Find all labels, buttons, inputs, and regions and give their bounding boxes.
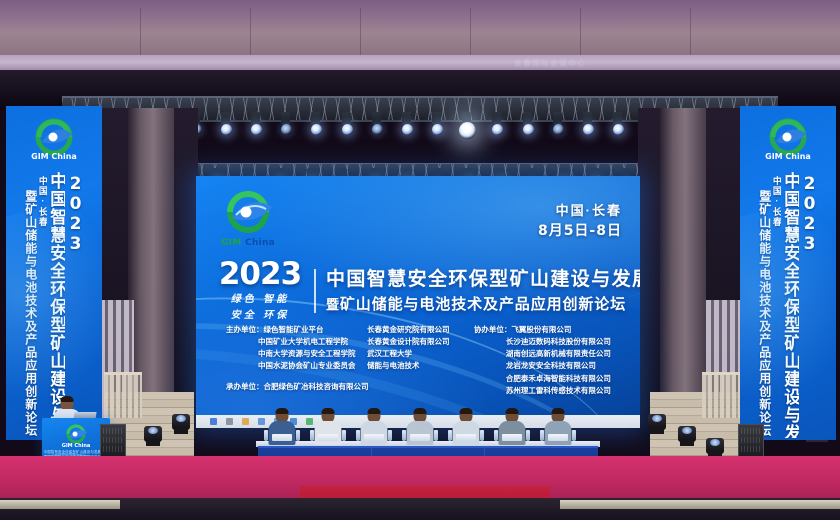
title-divider <box>314 269 316 313</box>
cohost-label: 协办单位： <box>474 324 512 336</box>
host-org: 中国水泥协会矿山专业委员会 <box>226 360 359 372</box>
panelist-hair <box>276 408 289 414</box>
balustrade-left <box>104 372 142 418</box>
undertaker-line: 承办单位：合肥绿色矿冶科技咨询有限公司 <box>226 381 369 392</box>
stage-light <box>342 124 353 135</box>
event-title-sub-lead: 暨 <box>326 297 340 312</box>
undertaker-label: 承办单位： <box>226 381 264 392</box>
moving-head-light <box>648 412 666 434</box>
lower-truss <box>110 163 730 177</box>
stage-light <box>432 124 443 135</box>
cohost-org: 合肥泰禾卓海智能科技有限公司 <box>474 373 626 385</box>
table-nameplate <box>272 434 292 441</box>
undertaker-org: 合肥绿色矿冶科技咨询有限公司 <box>264 382 369 391</box>
table-nameplate <box>502 434 522 441</box>
moving-head-light <box>144 424 162 446</box>
host-org: 中国矿业大学机电工程学院 <box>226 336 359 348</box>
water-bottle <box>572 430 576 441</box>
app-icon[interactable] <box>258 418 265 425</box>
side-banner-right: GIM China 2023 中国智慧安全环保型矿山建设与发展大会 中国·长春 … <box>740 106 836 440</box>
stage-right-pillar <box>660 108 706 430</box>
water-bottle <box>402 430 406 441</box>
main-led-screen: GIM China 中国·长春 8月5日-8日 2023 绿色 智能 安全 环保… <box>196 176 640 428</box>
stage-light <box>583 124 594 135</box>
gim-china-logo-icon: GIM China <box>212 190 284 248</box>
host-label: 主办单位： <box>226 324 264 336</box>
banner-right-subtitle: 暨矿山储能与电池技术及产品应用创新论坛 <box>758 190 770 438</box>
stage-light <box>613 124 624 135</box>
host-org: 绿色智能矿业平台 <box>264 325 324 334</box>
water-bottle <box>434 430 438 441</box>
stage-light <box>459 122 476 139</box>
cohost-org: 飞翼股份有限公司 <box>511 325 571 334</box>
banner-right-place: 中国·长春 <box>772 176 781 438</box>
folder-icon[interactable] <box>242 418 249 425</box>
event-year-column: 2023 绿色 智能 安全 环保 <box>216 260 304 323</box>
table-nameplate <box>456 434 476 441</box>
event-year: 2023 <box>216 260 304 290</box>
stage-light <box>281 124 292 135</box>
water-bottle <box>310 430 314 441</box>
panelist-body <box>453 421 480 445</box>
hall-upper-wall: 长春国际会展中心 <box>0 0 840 78</box>
host-column-2: 长春黄金研究院有限公司 长春黄金设计院有限公司 武汉工程大学 储能与电池技术 <box>367 324 466 397</box>
event-location-block: 中国·长春 8月5日-8日 <box>538 202 622 241</box>
stage-light <box>553 124 564 135</box>
stage-light <box>311 124 322 135</box>
event-title-block: 2023 绿色 智能 安全 环保 中国智慧安全环保型矿山建设与发展大会 暨矿山储… <box>216 260 624 323</box>
apron-edge-light <box>560 500 840 509</box>
panelist-body <box>407 421 434 445</box>
water-bottle <box>448 430 452 441</box>
moving-head-light <box>172 412 190 434</box>
banner-left-place: 中国·长春 <box>38 176 47 438</box>
stage-light <box>492 124 503 135</box>
stage-light <box>523 124 534 135</box>
search-icon[interactable] <box>226 418 233 425</box>
panelist-hair <box>414 408 427 414</box>
start-icon[interactable] <box>210 418 217 425</box>
panelist-hair <box>322 408 335 414</box>
banner-right-title: 中国智慧安全环保型矿山建设与发展大会 <box>782 172 799 438</box>
table-nameplate <box>364 434 384 441</box>
svg-text:GIM China: GIM China <box>62 443 91 449</box>
gim-china-logo-icon: GIM China <box>26 118 82 164</box>
host-org: 武汉工程大学 <box>367 348 466 360</box>
event-dates: 8月5日-8日 <box>538 221 622 241</box>
event-slogan-line1: 绿色 智能 <box>216 293 304 307</box>
water-bottle <box>342 430 346 441</box>
gim-wordmark-gim: GIM <box>221 238 242 248</box>
water-bottle <box>356 430 360 441</box>
equipment-rack <box>738 424 764 458</box>
stage-light <box>221 124 232 135</box>
panelist-hair <box>460 408 473 414</box>
banner-left-subtitle: 暨矿山储能与电池技术及产品应用创新论坛 <box>24 190 36 438</box>
gim-wordmark-china: China <box>245 238 275 248</box>
balustrade-right <box>702 372 740 418</box>
moving-head-light <box>678 424 696 446</box>
stage-light <box>372 124 383 135</box>
conference-stage-photo: 长春国际会展中心 GIM China 2023 中国智慧安全环保型矿山建设与发展… <box>0 0 840 520</box>
event-title-main: 中国智慧安全环保型矿山建设与发展大会 <box>326 268 640 292</box>
event-title-sub: 暨矿山储能与电池技术及产品应用创新论坛 <box>326 295 640 315</box>
water-bottle <box>264 430 268 441</box>
panelist-body <box>269 421 296 445</box>
cohost-org: 长沙迪迈数码科技股份有限公司 <box>474 336 626 348</box>
table-nameplate <box>410 434 430 441</box>
water-bottle <box>540 430 544 441</box>
stage-light <box>251 124 262 135</box>
water-bottle <box>526 430 530 441</box>
water-bottle <box>388 430 392 441</box>
cohost-org: 苏州理工雷科传感技术有限公司 <box>474 385 626 397</box>
panelist-body <box>361 421 388 445</box>
water-bottle <box>494 430 498 441</box>
water-bottle <box>480 430 484 441</box>
panelist-hair <box>506 408 519 414</box>
panelist-hair <box>368 408 381 414</box>
moving-head-light <box>706 436 724 458</box>
table-nameplate <box>318 434 338 441</box>
svg-text:GIM China: GIM China <box>765 152 811 161</box>
cohost-column: 协办单位：飞翼股份有限公司 长沙迪迈数码科技股份有限公司 湖南创远高新机械有限责… <box>474 324 626 397</box>
event-title-sub-text: 矿山储能与电池技术及产品应用创新论坛 <box>340 296 626 313</box>
panelist-body <box>499 421 526 445</box>
panelist-hair <box>552 408 565 414</box>
host-org: 长春黄金研究院有限公司 <box>367 324 466 336</box>
cohost-org: 湖南创远高新机械有限责任公司 <box>474 348 626 360</box>
svg-text:GIM China: GIM China <box>31 152 77 161</box>
stage-light <box>402 124 413 135</box>
gim-china-logo-icon: GIM China <box>760 118 816 164</box>
water-bottle <box>296 430 300 441</box>
gim-china-logo-icon: GIM China <box>59 423 93 449</box>
host-org: 长春黄金设计院有限公司 <box>367 336 466 348</box>
venue-wall-text: 长春国际会展中心 <box>400 57 700 70</box>
gim-wordmark: GIM China <box>212 238 284 248</box>
banner-right-year: 2023 <box>800 174 817 438</box>
cohost-org: 龙岩龙安安全科技有限公司 <box>474 360 626 372</box>
side-banner-left: GIM China 2023 中国智慧安全环保型矿山建设与发展大会 中国·长春 … <box>6 106 102 440</box>
host-org: 中南大学资源与安全工程学院 <box>226 348 359 360</box>
panelist-body <box>545 421 572 445</box>
apron-edge-light <box>0 500 120 509</box>
event-slogan-line2: 安全 环保 <box>216 309 304 323</box>
chart-icon[interactable] <box>306 418 313 425</box>
table-nameplate <box>548 434 568 441</box>
panelist-body <box>315 421 342 445</box>
host-org: 储能与电池技术 <box>367 360 466 372</box>
equipment-rack <box>100 424 126 458</box>
event-city: 中国·长春 <box>538 202 622 221</box>
